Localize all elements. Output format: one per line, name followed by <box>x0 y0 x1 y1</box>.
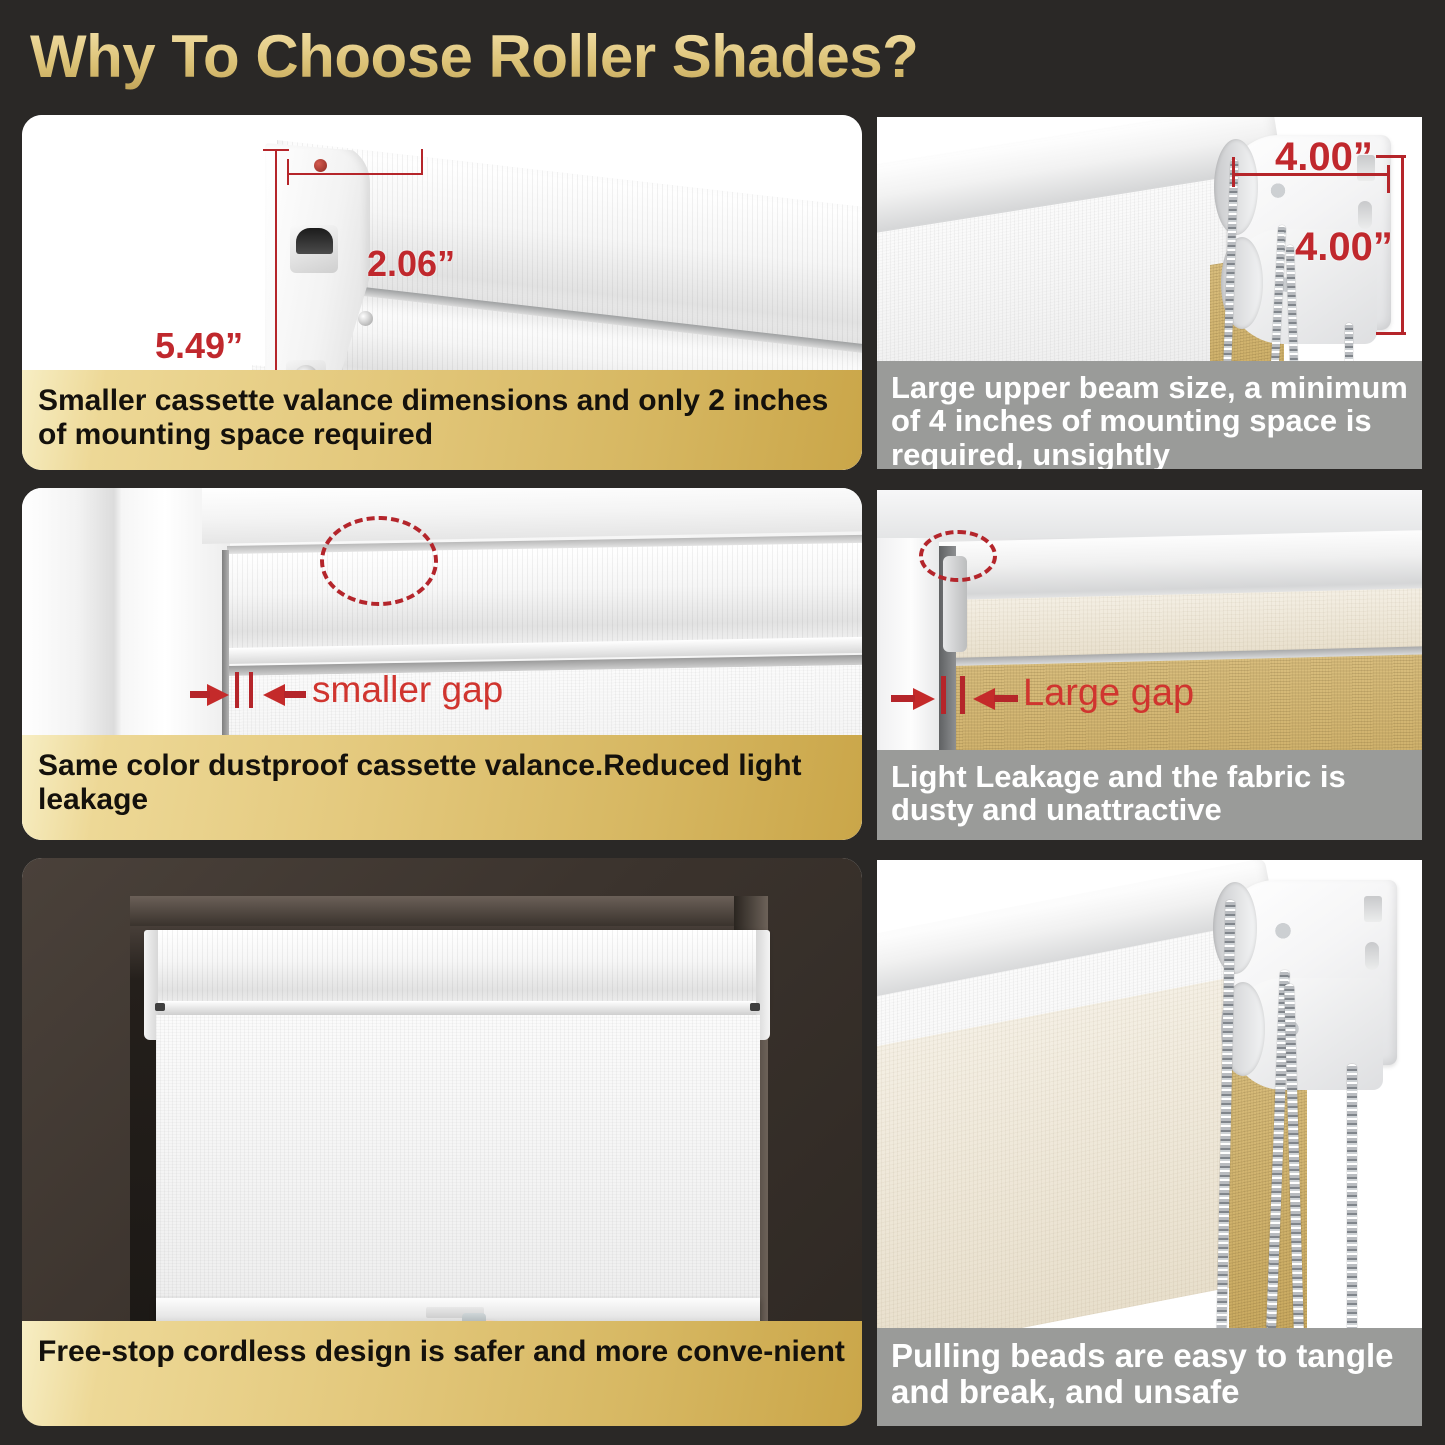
smaller-gap-label: smaller gap <box>312 669 503 711</box>
panel-2-caption: Large upper beam size, a minimum of 4 in… <box>877 361 1422 469</box>
highlight-circle-icon <box>320 516 438 606</box>
height-dimension-label: 5.49” <box>155 325 243 367</box>
panel-dustproof-valance: smaller gap Same color dustproof cassett… <box>22 488 862 840</box>
gap-arrow-right-stem <box>284 691 306 698</box>
panel-1-caption: Smaller cassette valance dimensions and … <box>22 370 862 470</box>
gap-measure-tick-b <box>960 676 965 714</box>
headrail-screw-left-icon <box>155 1003 165 1011</box>
cassette-headrail <box>147 930 767 1008</box>
panel-5-caption: Free-stop cordless design is safer and m… <box>22 1321 862 1426</box>
panel-pulling-beads: Pulling beads are easy to tangle and bre… <box>877 860 1422 1426</box>
panel-3-caption: Same color dustproof cassette valance.Re… <box>22 735 862 840</box>
beam-width-label: 4.00” <box>1275 135 1373 180</box>
beam-height-label: 4.00” <box>1295 225 1393 270</box>
width-dimension-line <box>287 173 423 175</box>
large-gap-label: Large gap <box>1023 672 1194 715</box>
gap-arrow-left-icon <box>207 684 229 706</box>
gap-measure-tick-a <box>235 672 239 708</box>
gap-arrow-right-stem <box>994 695 1018 702</box>
panel-4-caption: Light Leakage and the fabric is dusty an… <box>877 750 1422 840</box>
beam-height-tick-top <box>1376 155 1406 158</box>
bracket-mount-notch-lower <box>1365 942 1379 970</box>
end-cap-screw <box>358 311 373 326</box>
bracket-mount-notch-upper <box>1364 896 1382 922</box>
highlight-circle-icon <box>919 530 997 582</box>
bead-chain-4 <box>1347 1064 1357 1332</box>
bracket-roller-rim <box>1213 882 1257 974</box>
gap-arrow-right-icon <box>263 684 285 706</box>
beam-height-tick-bottom <box>1376 332 1406 335</box>
infographic-root: Why To Choose Roller Shades? 5.49” <box>0 0 1445 1445</box>
beam-height-dimension-line <box>1401 155 1404 335</box>
page-title: Why To Choose Roller Shades? <box>30 22 1030 94</box>
window-casing-top-molding <box>202 488 862 544</box>
beam-width-tick-right <box>1387 165 1390 193</box>
gap-measure-tick-a <box>941 676 946 714</box>
width-dimension-tick-left <box>287 159 289 185</box>
panel-6-caption: Pulling beads are easy to tangle and bre… <box>877 1328 1422 1426</box>
gap-arrow-left-stem <box>891 695 915 702</box>
panel-light-leakage: Large gap Light Leakage and the fabric i… <box>877 490 1422 840</box>
panel-large-beam: 4.00” 4.00” Large upper beam size, a min… <box>877 117 1422 469</box>
end-cap-top-screw <box>314 159 327 172</box>
beam-width-tick-left <box>1232 157 1235 187</box>
end-cap-slot-upper-hole <box>296 228 333 254</box>
gap-arrow-right-icon <box>973 688 995 710</box>
panel-smaller-cassette: 5.49” 2.06” Smaller cassette valance dim… <box>22 115 862 470</box>
width-dimension-label: 2.06” <box>367 243 455 285</box>
panel-cordless-design: Free-stop cordless design is safer and m… <box>22 858 862 1426</box>
gap-measure-tick-b <box>249 672 253 708</box>
width-dimension-tick-right <box>421 149 423 175</box>
gap-arrow-left-stem <box>190 691 210 698</box>
headrail-lip <box>147 1001 767 1016</box>
height-dimension-tick-top <box>263 149 289 151</box>
gap-arrow-left-icon <box>913 688 935 710</box>
bracket-logo-upper-icon <box>1269 914 1297 942</box>
headrail-screw-right-icon <box>750 1003 760 1011</box>
shade-fabric <box>156 1015 760 1303</box>
window-recess-top-ledge <box>130 896 768 926</box>
